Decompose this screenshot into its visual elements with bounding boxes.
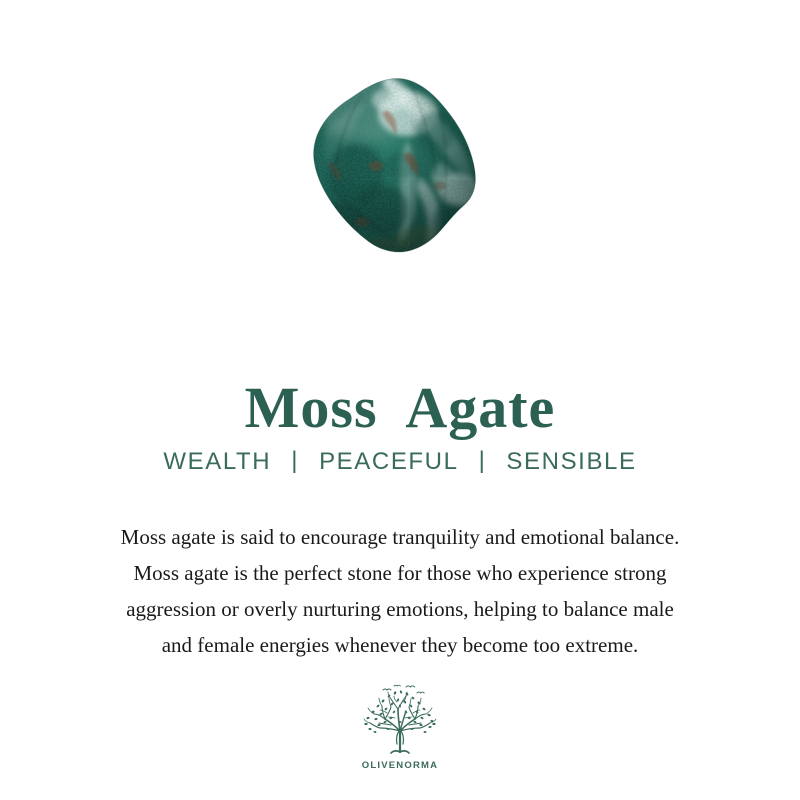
keyword-peaceful: PEACEFUL bbox=[315, 448, 463, 477]
page-title: Moss Agate bbox=[0, 379, 800, 437]
description-line: Moss agate is said to encourage tranquil… bbox=[40, 519, 760, 555]
keyword-separator: | bbox=[275, 447, 315, 476]
description-line: Moss agate is the perfect stone for thos… bbox=[40, 555, 760, 591]
product-info-card: Moss Agate WEALTH | PEACEFUL | SENSIBLE … bbox=[0, 0, 800, 800]
keyword-list: WEALTH | PEACEFUL | SENSIBLE bbox=[0, 448, 800, 477]
brand-wordmark: OLIVENORMA bbox=[362, 760, 438, 771]
keyword-sensible: SENSIBLE bbox=[502, 448, 640, 477]
description-line: and female energies whenever they become… bbox=[40, 627, 760, 663]
keyword-wealth: WEALTH bbox=[159, 448, 275, 477]
brand-logo: OLIVENORMA bbox=[0, 684, 800, 771]
moss-agate-stone-image bbox=[290, 70, 510, 285]
olive-tree-icon bbox=[361, 684, 439, 758]
stone-image-container bbox=[0, 62, 800, 292]
description-text: Moss agate is said to encourage tranquil… bbox=[40, 519, 760, 663]
description-line: aggression or overly nurturing emotions,… bbox=[40, 591, 760, 627]
keyword-separator: | bbox=[463, 447, 503, 476]
